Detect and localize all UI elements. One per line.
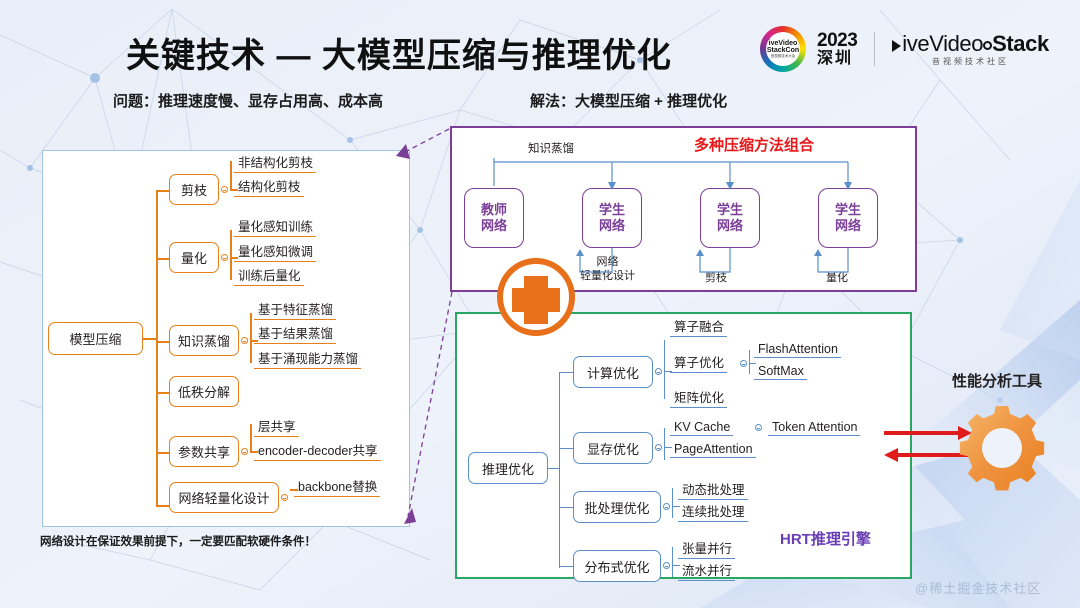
connector <box>559 372 573 373</box>
node-label-line2: 网络 <box>481 218 507 234</box>
mindmap-node-param-share[interactable]: 参数共享 <box>169 436 239 467</box>
node-label: 显存优化 <box>587 439 639 458</box>
connector <box>156 505 169 507</box>
mindmap-leaf[interactable]: 层共享 <box>254 416 299 437</box>
node-label: 计算优化 <box>587 363 639 382</box>
collapse-toggle-icon[interactable] <box>655 444 662 451</box>
collapse-toggle-icon[interactable] <box>241 337 248 344</box>
mindmap-leaf[interactable]: backbone替换 <box>294 476 380 497</box>
collapse-toggle-icon[interactable] <box>663 562 670 569</box>
mindmap-node-distributed-opt[interactable]: 分布式优化 <box>573 550 661 582</box>
collapse-toggle-icon[interactable] <box>740 360 747 367</box>
logo-city: 深圳 <box>817 51 857 67</box>
connector <box>156 452 169 454</box>
collapse-toggle-icon[interactable] <box>663 503 670 510</box>
mindmap-leaf[interactable]: 量化感知训练 <box>234 216 316 237</box>
livevideostackcon-badge-icon: iveVideo StackCon 音视频技术大会 <box>760 26 806 72</box>
slide-root: 关键技术 — 大模型压缩与推理优化 问题：推理速度慢、显存占用高、成本高 解法：… <box>0 0 1080 608</box>
mindmap-leaf[interactable]: encoder-decoder共享 <box>254 440 381 461</box>
watermark: @稀土掘金技术社区 <box>915 578 1041 597</box>
node-label: 参数共享 <box>178 442 230 461</box>
mindmap-leaf[interactable]: 连续批处理 <box>678 501 748 522</box>
node-label: 分布式优化 <box>584 557 649 576</box>
network-node-student-2[interactable]: 学生 网络 <box>700 188 760 248</box>
collapse-toggle-icon[interactable] <box>655 368 662 375</box>
subtitle-problem: 问题：推理速度慢、显存占用高、成本高 <box>113 90 383 111</box>
mindmap-node-quantization[interactable]: 量化 <box>169 242 219 273</box>
performance-tool-label: 性能分析工具 <box>952 370 1042 391</box>
brand-stack: Stack <box>992 31 1049 56</box>
mindmap-leaf[interactable]: PageAttention <box>670 442 756 458</box>
connector <box>250 424 252 453</box>
connector <box>664 340 665 399</box>
hrt-engine-label: HRT推理引擎 <box>780 528 871 549</box>
node-label: 网络轻量化设计 <box>178 488 269 507</box>
mindmap-node-lightweight-design[interactable]: 网络轻量化设计 <box>169 482 279 513</box>
mindmap-leaf[interactable]: 流水并行 <box>678 560 735 581</box>
connector <box>672 547 673 577</box>
connector <box>156 191 158 505</box>
collapse-toggle-icon[interactable] <box>281 494 288 501</box>
connector <box>156 392 169 394</box>
logo-year-city: 2023 深圳 <box>817 31 857 67</box>
node-label: 低秩分解 <box>178 382 230 401</box>
connector <box>156 258 169 260</box>
mindmap-node-memory-opt[interactable]: 显存优化 <box>573 432 653 464</box>
mindmap-node-pruning[interactable]: 剪枝 <box>169 174 219 205</box>
logo-group: iveVideo StackCon 音视频技术大会 2023 深圳 iveVid… <box>760 26 1049 72</box>
mindmap-node-root-compression[interactable]: 模型压缩 <box>48 322 143 355</box>
footnote-text: 网络设计在保证效果前提下，一定要匹配软硬件条件！ <box>40 533 316 549</box>
network-node-student-1[interactable]: 学生 网络 <box>582 188 642 248</box>
badge-line-2: StackCon <box>767 47 799 54</box>
connector <box>559 566 573 567</box>
mindmap-node-batch-opt[interactable]: 批处理优化 <box>573 491 661 523</box>
mindmap-leaf[interactable]: 非结构化剪枝 <box>234 152 316 173</box>
brand-wordmark: iveVideoStack <box>892 33 1049 55</box>
connector <box>143 338 157 340</box>
connector <box>559 448 573 449</box>
mindmap-leaf[interactable]: 量化感知微调 <box>234 241 316 262</box>
knowledge-distillation-label: 知识蒸馏 <box>528 140 574 156</box>
connector <box>559 507 573 508</box>
node-label: 模型压缩 <box>69 329 121 348</box>
network-node-student-3[interactable]: 学生 网络 <box>818 188 878 248</box>
mindmap-leaf[interactable]: KV Cache <box>670 420 733 436</box>
caption-quantization: 量化 <box>826 272 848 286</box>
mindmap-leaf[interactable]: FlashAttention <box>754 342 841 358</box>
brand-live: ive <box>902 31 929 56</box>
mindmap-leaf[interactable]: 基于特征蒸馏 <box>254 299 336 320</box>
mindmap-leaf[interactable]: Token Attention <box>768 420 860 436</box>
connector <box>664 428 665 460</box>
connector <box>230 161 232 190</box>
node-label-line1: 学生 <box>835 202 861 218</box>
mindmap-leaf[interactable]: 结构化剪枝 <box>234 176 304 197</box>
livevideostack-logo: iveVideoStack 音视频技术社区 <box>892 33 1049 66</box>
node-label-line1: 学生 <box>599 202 625 218</box>
network-node-teacher[interactable]: 教师 网络 <box>464 188 524 248</box>
badge-line-1: iveVideo <box>769 40 798 47</box>
brand-video: Video <box>929 31 983 56</box>
connector <box>156 190 169 192</box>
collapse-toggle-icon[interactable] <box>755 424 762 431</box>
mindmap-leaf[interactable]: 矩阵优化 <box>670 387 727 408</box>
node-label-line1: 教师 <box>481 202 507 218</box>
brand-subtitle: 音视频技术社区 <box>892 58 1049 66</box>
play-triangle-icon <box>892 40 901 52</box>
mindmap-leaf[interactable]: 算子融合 <box>670 316 727 337</box>
mindmap-leaf[interactable]: 训练后量化 <box>234 265 304 286</box>
subtitle-solution: 解法：大模型压缩 + 推理优化 <box>530 90 727 111</box>
mindmap-leaf[interactable]: 基于结果蒸馏 <box>254 323 336 344</box>
connector <box>156 341 169 343</box>
node-label: 推理优化 <box>482 459 534 478</box>
collapse-toggle-icon[interactable] <box>221 254 228 261</box>
page-title: 关键技术 — 大模型压缩与推理优化 <box>126 28 672 77</box>
mindmap-leaf[interactable]: SoftMax <box>754 364 807 380</box>
circle-dot-icon <box>983 41 992 50</box>
node-label-line2: 网络 <box>835 218 861 234</box>
mindmap-leaf[interactable]: 动态批处理 <box>678 479 748 500</box>
node-label: 批处理优化 <box>584 498 649 517</box>
node-label-line2: 网络 <box>599 218 625 234</box>
caption-lightweight-design: 网络 轻量化设计 <box>580 256 635 284</box>
node-label-line1: 学生 <box>717 202 743 218</box>
mindmap-node-low-rank[interactable]: 低秩分解 <box>169 376 239 407</box>
logo-divider <box>874 32 875 66</box>
connector <box>672 488 673 518</box>
connector <box>250 313 252 363</box>
collapse-toggle-icon[interactable] <box>241 448 248 455</box>
node-label: 剪枝 <box>181 180 207 199</box>
mindmap-node-inference-root[interactable]: 推理优化 <box>468 452 548 484</box>
mindmap-leaf[interactable]: 基于涌现能力蒸馏 <box>254 348 361 369</box>
connector <box>559 372 560 568</box>
badge-line-3: 音视频技术大会 <box>771 55 796 59</box>
connector <box>749 350 750 374</box>
logo-year: 2023 <box>817 30 857 51</box>
collapse-toggle-icon[interactable] <box>221 186 228 193</box>
node-label: 知识蒸馏 <box>178 331 230 350</box>
caption-pruning: 剪枝 <box>705 272 727 286</box>
node-label-line2: 网络 <box>717 218 743 234</box>
compression-combination-heading: 多种压缩方法组合 <box>694 134 814 155</box>
connector <box>230 230 232 280</box>
node-label: 量化 <box>181 248 207 267</box>
mindmap-node-knowledge-distillation[interactable]: 知识蒸馏 <box>169 325 239 356</box>
mindmap-leaf[interactable]: 张量并行 <box>678 538 735 559</box>
mindmap-node-compute-opt[interactable]: 计算优化 <box>573 356 653 388</box>
mindmap-leaf[interactable]: 算子优化 <box>670 352 727 373</box>
